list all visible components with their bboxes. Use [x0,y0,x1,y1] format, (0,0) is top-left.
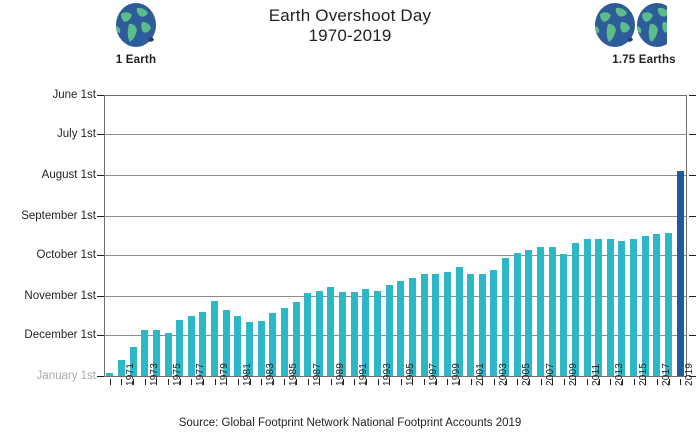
x-axis-label: 1981 [242,363,253,386]
x-axis-tick [657,379,658,385]
bar [188,316,195,376]
x-axis-tick [168,379,169,385]
bar [479,274,486,376]
bar [421,274,428,376]
x-axis-label: 1987 [312,363,323,386]
x-axis-tick [191,379,192,385]
bar [327,287,334,376]
chart-root: Earth Overshoot Day 1970-2019 1 Earth [0,0,700,439]
plot-right-border [686,95,687,377]
x-axis-tick [378,379,379,385]
bar [549,247,556,376]
bar [665,233,672,376]
x-axis-label: 2015 [638,363,649,386]
x-axis-tick [680,379,681,385]
x-axis-tick [494,379,495,385]
y-axis-label: September 1st [0,210,96,222]
bar [106,373,113,376]
gridline [104,175,686,176]
plot-top-border [104,95,686,96]
x-axis-tick [471,379,472,385]
x-axis-label: 2003 [498,363,509,386]
bar [595,239,602,376]
y-axis-tick-right [689,95,696,96]
x-axis-label: 2013 [614,363,625,386]
bar [502,258,509,376]
x-axis-tick [238,379,239,385]
x-axis-tick [610,379,611,385]
y-axis-tick-right [689,296,696,297]
y-axis-tick-right [689,335,696,336]
bar [572,243,579,376]
x-axis-tick [284,379,285,385]
bar [165,333,172,376]
y-axis-tick [97,216,104,217]
x-axis-tick [424,379,425,385]
x-axis-label: 1979 [219,363,230,386]
bar [258,321,265,376]
x-axis-tick [587,379,588,385]
x-axis-label: 1983 [265,363,276,386]
x-axis-tick [145,379,146,385]
x-axis-label: 1989 [335,363,346,386]
y-axis-tick-right [689,175,696,176]
y-axis-tick [97,134,104,135]
bar [514,253,521,376]
chart-plot-area: June 1stJuly 1stAugust 1stSeptember 1stO… [0,0,700,439]
bar [304,293,311,376]
bar [607,239,614,376]
x-axis-tick [541,379,542,385]
bar [118,360,125,376]
y-axis-label: July 1st [0,128,96,140]
bar [584,239,591,376]
x-axis-label: 1971 [125,363,136,386]
bar [281,308,288,376]
bar [467,274,474,376]
y-axis-label: December 1st [0,329,96,341]
bar [642,236,649,377]
x-axis-label: 1991 [358,363,369,386]
x-axis-label: 1973 [149,363,160,386]
x-axis-tick [308,379,309,385]
x-axis-label: 2019 [684,363,695,386]
x-axis-label: 1997 [428,363,439,386]
x-axis-tick [634,379,635,385]
x-axis-tick [215,379,216,385]
gridline [104,216,686,217]
bar [677,171,684,376]
bar [374,291,381,376]
y-axis-label: November 1st [0,290,96,302]
y-axis-label: August 1st [0,169,96,181]
x-axis-tick [564,379,565,385]
x-axis-label: 1993 [382,363,393,386]
x-axis-label: 2001 [475,363,486,386]
x-axis-tick [261,379,262,385]
bar [397,281,404,376]
x-axis-label: 1985 [288,363,299,386]
x-axis-label: 1975 [172,363,183,386]
y-axis-label: October 1st [0,249,96,261]
bar [211,301,218,376]
x-axis-label: 2017 [661,363,672,386]
bar [409,278,416,376]
x-axis-label: 1995 [405,363,416,386]
x-axis-tick [110,379,111,385]
bar [630,239,637,376]
x-axis-tick [447,379,448,385]
x-axis-tick [401,379,402,385]
x-axis-label: 2005 [521,363,532,386]
x-axis-tick [121,379,122,385]
bar [560,254,567,376]
x-axis-label: 1999 [451,363,462,386]
bar [525,250,532,376]
y-axis-tick [97,175,104,176]
source-caption: Source: Global Footprint Network Nationa… [0,417,700,429]
bar [490,270,497,376]
x-axis-label: 2009 [568,363,579,386]
y-axis-tick-right [689,216,696,217]
bar [351,292,358,376]
y-axis-tick [97,296,104,297]
bar [432,274,439,376]
y-axis-tick [97,335,104,336]
y-axis-labels: June 1stJuly 1stAugust 1stSeptember 1stO… [0,0,96,439]
x-axis-tick [331,379,332,385]
x-axis-tick [354,379,355,385]
y-axis-tick [97,376,104,377]
y-axis-line [104,95,105,376]
y-axis-tick-right [689,134,696,135]
bar [618,241,625,376]
y-axis-label: January 1st [0,370,96,382]
bar [537,247,544,376]
gridline [104,134,686,135]
x-axis-label: 2007 [545,363,556,386]
bar [444,272,451,376]
y-axis-tick [97,95,104,96]
bar [141,330,148,376]
bar [653,234,660,376]
y-axis-label: June 1st [0,89,96,101]
bar [234,316,241,376]
y-axis-tick [97,255,104,256]
y-axis-tick-right [689,255,696,256]
x-axis-tick [517,379,518,385]
bar [456,267,463,376]
x-axis-label: 2011 [591,364,602,386]
x-axis-label: 1977 [195,363,206,386]
